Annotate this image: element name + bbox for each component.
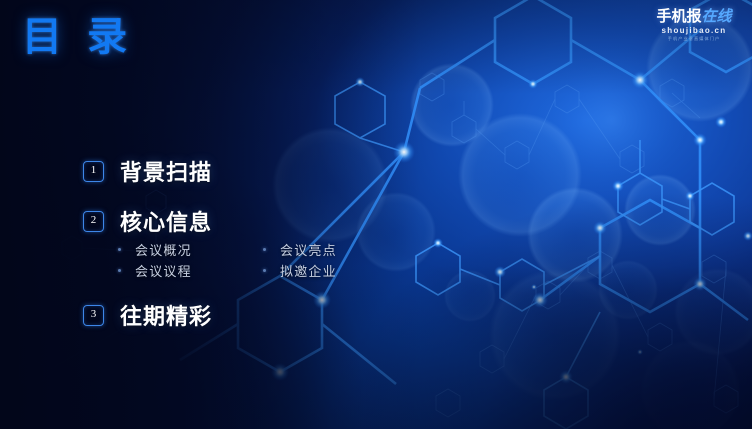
bullet-dot-icon (118, 248, 121, 251)
toc-sub-items: 会议概况 会议亮点 会议议程 拟邀企业 (118, 239, 408, 281)
table-of-contents: 1 背景扫描 2 核心信息 会议概况 会议亮点 会议议程 拟邀企业 (0, 0, 430, 429)
toc-sub-item-3[interactable]: 会议议程 (118, 261, 263, 280)
toc-sub-item-1[interactable]: 会议概况 (118, 240, 263, 259)
bullet-dot-icon (118, 269, 121, 272)
toc-sub-item-label-2: 会议亮点 (280, 240, 337, 259)
logo-name-part2: 在线 (702, 9, 732, 25)
toc-item-label-1: 背景扫描 (120, 155, 212, 187)
logo-name-part1: 手机报 (656, 9, 701, 25)
logo-name: 手机报在线 (646, 10, 742, 25)
bullet-dot-icon (263, 269, 266, 272)
toc-number-badge-2: 2 (83, 211, 104, 232)
presentation-slide: 目 录 1 背景扫描 2 核心信息 会议概况 会议亮点 会议议程 (0, 0, 752, 429)
toc-sub-item-label-1: 会议概况 (135, 240, 192, 259)
logo-domain: shoujibao.cn (646, 27, 742, 35)
toc-item-2[interactable]: 2 核心信息 (83, 205, 212, 237)
toc-item-1[interactable]: 1 背景扫描 (83, 155, 212, 187)
toc-number-badge-1: 1 (83, 161, 104, 182)
toc-item-label-2: 核心信息 (120, 205, 212, 237)
toc-item-3[interactable]: 3 往期精彩 (83, 299, 212, 331)
toc-sub-item-4[interactable]: 拟邀企业 (263, 261, 408, 280)
toc-sub-item-label-3: 会议议程 (135, 261, 192, 280)
brand-logo: 手机报在线 shoujibao.cn 手机产业垂直媒体门户 (646, 10, 742, 42)
logo-tagline: 手机产业垂直媒体门户 (650, 37, 738, 41)
toc-item-label-3: 往期精彩 (120, 299, 212, 331)
bullet-dot-icon (263, 248, 266, 251)
toc-sub-item-label-4: 拟邀企业 (280, 261, 337, 280)
toc-number-badge-3: 3 (83, 305, 104, 326)
toc-sub-item-2[interactable]: 会议亮点 (263, 240, 408, 259)
